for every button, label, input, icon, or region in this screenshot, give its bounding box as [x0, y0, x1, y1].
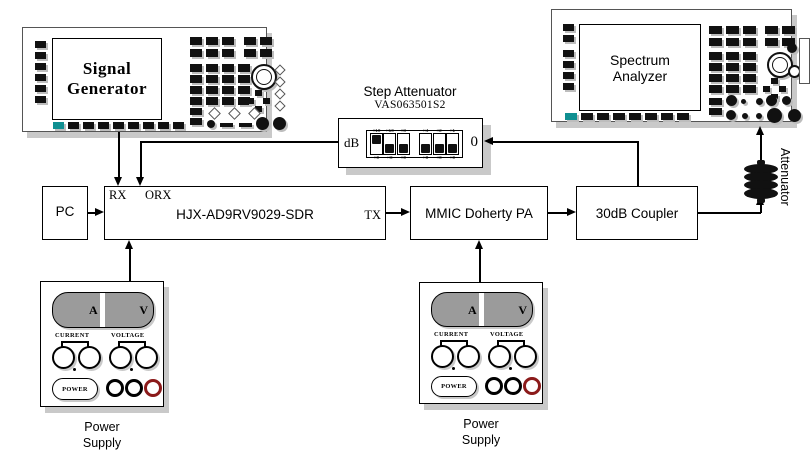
- arrow-siggen-to-rx: [114, 177, 122, 186]
- ps1-indicator-dot: [130, 368, 133, 371]
- block-sdr-label: HJX-AD9RV9029-SDR: [105, 207, 385, 222]
- arrow-load-to-spectrum-analyzer: [756, 126, 764, 135]
- sa-function-key[interactable]: [743, 38, 756, 46]
- sa-softkey-active[interactable]: [565, 113, 577, 120]
- sg-function-key[interactable]: [206, 49, 218, 57]
- power-supply-1-caption: Power Supply: [42, 420, 162, 451]
- sa-keypad-key[interactable]: [709, 85, 722, 93]
- sdr-port-rx-label: RX: [109, 188, 126, 203]
- sg-function-key[interactable]: [190, 37, 202, 45]
- load-attenuator-connector-bottom: [757, 198, 765, 203]
- sg-keypad-key[interactable]: [206, 64, 218, 72]
- block-pc-label: PC: [43, 204, 87, 219]
- sg-connector[interactable]: [207, 120, 215, 128]
- wire-attenuator-to-orx-vertical: [140, 141, 142, 180]
- wire-coupler-to-load-horizontal: [698, 212, 761, 214]
- ps2-caption-line1: Power: [421, 417, 541, 433]
- wire-sdr-to-pa: [386, 212, 402, 214]
- sg-rotary-knob[interactable]: [251, 64, 277, 90]
- sg-side-button[interactable]: [35, 52, 46, 59]
- attenuator-switch-1-top-label: ×10: [371, 128, 382, 133]
- sg-indicator-icon: [274, 88, 285, 99]
- step-attenuator[interactable]: dB ×10 ×0 ×10 ×0 ×8 ×0: [338, 118, 483, 168]
- ps2-current-fine-knob[interactable]: [457, 345, 480, 368]
- sg-keypad-key[interactable]: [190, 75, 202, 83]
- ps1-voltage-coarse-knob[interactable]: [109, 346, 132, 369]
- sg-keypad-key[interactable]: [222, 64, 234, 72]
- power-supply-2[interactable]: A V CURRENT VOLTAGE POWER: [419, 282, 543, 404]
- sg-indicator-icon: [274, 100, 285, 111]
- sa-function-key[interactable]: [709, 38, 722, 46]
- arrow-sdr-to-pa: [401, 208, 410, 216]
- sa-softkey[interactable]: [613, 113, 625, 120]
- wire-siggen-to-rx: [118, 132, 120, 180]
- sg-keypad-key[interactable]: [206, 97, 218, 105]
- sa-function-key[interactable]: [782, 26, 795, 34]
- sg-connector[interactable]: [239, 123, 252, 127]
- sg-keypad-key[interactable]: [238, 75, 250, 83]
- sa-side-button[interactable]: [563, 24, 574, 31]
- sa-screen-line1: Spectrum: [610, 52, 670, 68]
- attenuator-switch-6-bottom-label: ×0: [447, 155, 458, 160]
- ps2-current-section-label: CURRENT: [434, 331, 468, 338]
- sg-softkey[interactable]: [98, 122, 109, 129]
- ps2-power-button[interactable]: POWER: [431, 376, 477, 397]
- attenuator-switch-5[interactable]: ×2 ×0: [433, 133, 446, 155]
- sa-softkey[interactable]: [597, 113, 609, 120]
- sg-side-button[interactable]: [35, 96, 46, 103]
- sa-arrow-left-key[interactable]: [763, 86, 770, 92]
- attenuator-switch-4-top-label: ×4: [420, 128, 431, 133]
- wire-pa-to-coupler: [548, 212, 568, 214]
- attenuator-switch-6-top-label: ×1: [447, 128, 458, 133]
- arrow-ps1-to-sdr: [125, 240, 133, 249]
- arrow-coupler-to-attenuator: [484, 137, 493, 145]
- ps2-display: A V: [431, 292, 533, 327]
- attenuator-switch-2-bottom-label: ×0: [384, 155, 395, 160]
- sa-keypad-key[interactable]: [743, 85, 756, 93]
- sg-softkey[interactable]: [173, 122, 184, 129]
- sg-keypad-key[interactable]: [222, 97, 234, 105]
- ps1-output-terminal-positive[interactable]: [144, 379, 162, 397]
- sa-keypad-key[interactable]: [709, 63, 722, 71]
- sa-utility-key[interactable]: [709, 108, 722, 115]
- sa-side-button[interactable]: [563, 72, 574, 79]
- sa-keypad-key[interactable]: [743, 74, 756, 82]
- sa-softkey[interactable]: [629, 113, 641, 120]
- load-attenuator[interactable]: [744, 160, 778, 204]
- ps1-voltage-section-label: VOLTAGE: [111, 332, 145, 339]
- sa-keypad-key[interactable]: [743, 63, 756, 71]
- arrow-pa-to-coupler: [567, 208, 576, 216]
- step-attenuator-output-port-label: 0: [471, 134, 479, 151]
- wire-coupler-to-attenuator-horizontal: [492, 141, 639, 143]
- sg-rf-output-port[interactable]: [273, 117, 286, 130]
- sa-keypad-key[interactable]: [743, 52, 756, 60]
- attenuator-switch-5-top-label: ×2: [434, 128, 445, 133]
- sa-keypad-key[interactable]: [726, 52, 739, 60]
- ps1-voltage-fine-knob[interactable]: [135, 346, 158, 369]
- sa-connector[interactable]: [756, 98, 763, 105]
- ps1-caption-line2: Supply: [42, 436, 162, 452]
- sg-connector[interactable]: [220, 123, 233, 127]
- sg-screen-line1: Signal: [67, 59, 147, 79]
- attenuator-switch-2-top-label: ×10: [384, 128, 395, 133]
- wire-load-to-spectrum-analyzer: [760, 131, 762, 163]
- sg-softkey[interactable]: [83, 122, 94, 129]
- sg-keypad-key[interactable]: [222, 75, 234, 83]
- attenuator-switch-3-top-label: ×8: [398, 128, 409, 133]
- sa-indicator-led: [787, 43, 797, 53]
- spectrum-analyzer-screen: Spectrum Analyzer: [579, 24, 701, 111]
- sg-function-key[interactable]: [260, 49, 272, 57]
- sa-softkey[interactable]: [581, 113, 593, 120]
- power-supply-1[interactable]: A V CURRENT VOLTAGE POWER: [40, 281, 164, 407]
- load-attenuator-label: Attenuator: [778, 148, 792, 206]
- signal-generator[interactable]: Signal Generator: [22, 27, 267, 132]
- sg-function-key[interactable]: [244, 49, 256, 57]
- sa-connector[interactable]: [741, 99, 746, 104]
- ps1-current-coarse-knob[interactable]: [52, 346, 75, 369]
- step-attenuator-switch-bank[interactable]: ×10 ×0 ×10 ×0 ×8 ×0 ×4: [366, 130, 463, 158]
- sg-rf-output-port[interactable]: [256, 117, 269, 130]
- ps2-current-coarse-knob[interactable]: [431, 345, 454, 368]
- sa-keypad-key[interactable]: [726, 63, 739, 71]
- sdr-port-tx-label: TX: [364, 208, 381, 223]
- sg-indicator-icon: [228, 107, 241, 120]
- attenuator-switch-1-bottom-label: ×0: [371, 155, 382, 160]
- sa-side-button[interactable]: [563, 61, 574, 68]
- sa-keypad-key[interactable]: [709, 52, 722, 60]
- spectrum-analyzer[interactable]: Spectrum Analyzer: [551, 9, 792, 122]
- sa-connector[interactable]: [756, 113, 762, 119]
- sa-softkey[interactable]: [661, 113, 673, 120]
- sg-screen-line2: Generator: [67, 79, 147, 99]
- arrow-attenuator-to-orx: [136, 177, 144, 186]
- sg-side-button[interactable]: [35, 74, 46, 81]
- sa-function-key[interactable]: [743, 26, 756, 34]
- sa-connector[interactable]: [766, 95, 777, 106]
- sa-keypad-key[interactable]: [726, 74, 739, 82]
- sa-connector[interactable]: [726, 95, 737, 106]
- sa-rf-input-port[interactable]: [767, 108, 782, 123]
- block-coupler-label: 30dB Coupler: [577, 206, 697, 221]
- sa-arrow-up-key[interactable]: [771, 78, 778, 84]
- sg-indicator-icon: [208, 107, 221, 120]
- ps1-voltage-unit: V: [139, 303, 148, 318]
- attenuator-switch-4[interactable]: ×4 ×0: [419, 133, 432, 155]
- attenuator-switch-4-bottom-label: ×0: [420, 155, 431, 160]
- sg-softkey[interactable]: [113, 122, 124, 129]
- sg-keypad-key[interactable]: [190, 86, 202, 94]
- ps1-current-fine-knob[interactable]: [78, 346, 101, 369]
- ps2-indicator-dot: [452, 367, 455, 370]
- diagram-canvas: Signal Generator: [0, 0, 810, 470]
- sg-utility-key[interactable]: [190, 108, 202, 115]
- sa-connector[interactable]: [742, 113, 748, 119]
- ps2-voltage-fine-knob[interactable]: [514, 345, 537, 368]
- step-attenuator-title: Step Attenuator VAS063501S2: [330, 84, 490, 111]
- power-supply-2-caption: Power Supply: [421, 417, 541, 448]
- sg-keypad-key[interactable]: [206, 75, 218, 83]
- sg-keypad-key[interactable]: [206, 86, 218, 94]
- sa-side-button[interactable]: [563, 83, 574, 90]
- ps2-voltage-section-label: VOLTAGE: [490, 331, 524, 338]
- block-doherty-pa-label: MMIC Doherty PA: [411, 206, 547, 221]
- ps1-display: A V: [52, 292, 154, 328]
- sdr-port-orx-label: ORX: [145, 188, 171, 203]
- ps2-voltage-unit: V: [518, 303, 527, 318]
- sg-keypad-key[interactable]: [238, 86, 250, 94]
- sg-arrow-right-key[interactable]: [263, 98, 270, 104]
- step-attenuator-title-text: Step Attenuator: [330, 84, 490, 99]
- sa-connector[interactable]: [782, 96, 791, 105]
- attenuator-switch-1[interactable]: ×10 ×0: [370, 133, 383, 155]
- sg-function-key[interactable]: [206, 37, 218, 45]
- sa-softkey[interactable]: [645, 113, 657, 120]
- sa-function-key[interactable]: [726, 38, 739, 46]
- wire-coupler-to-attenuator-vertical: [637, 141, 639, 187]
- ps1-output-terminal-ground[interactable]: [125, 379, 143, 397]
- sg-function-key[interactable]: [222, 37, 234, 45]
- sg-side-button[interactable]: [35, 41, 46, 48]
- ps1-current-section-label: CURRENT: [55, 332, 89, 339]
- sg-arrow-up-key[interactable]: [255, 90, 262, 96]
- sg-softkey-active[interactable]: [53, 122, 64, 129]
- sg-function-key[interactable]: [190, 49, 202, 57]
- sg-keypad-key[interactable]: [190, 64, 202, 72]
- block-sdr[interactable]: RX ORX HJX-AD9RV9029-SDR TX: [104, 186, 386, 240]
- arrow-pc-to-sdr: [95, 208, 104, 216]
- sg-keypad-key[interactable]: [190, 97, 202, 105]
- sg-function-key[interactable]: [244, 37, 256, 45]
- sg-softkey[interactable]: [68, 122, 79, 129]
- sg-softkey[interactable]: [128, 122, 139, 129]
- sg-keypad-key[interactable]: [222, 86, 234, 94]
- sg-function-key[interactable]: [222, 49, 234, 57]
- attenuator-switch-3[interactable]: ×8 ×0: [397, 133, 410, 155]
- ps2-caption-line2: Supply: [421, 433, 541, 449]
- sa-function-key[interactable]: [709, 26, 722, 34]
- ps2-output-terminal-positive[interactable]: [523, 377, 541, 395]
- ps1-output-terminal-negative[interactable]: [106, 379, 124, 397]
- wire-ps2-to-pa: [479, 248, 481, 282]
- ps1-power-button[interactable]: POWER: [52, 378, 98, 400]
- attenuator-switch-5-bottom-label: ×0: [434, 155, 445, 160]
- block-pc[interactable]: PC: [42, 186, 88, 240]
- ps1-current-unit: A: [89, 303, 98, 318]
- attenuator-switch-6[interactable]: ×1 ×0: [446, 133, 459, 155]
- sa-arrow-right-key[interactable]: [779, 86, 786, 92]
- attenuator-switch-2[interactable]: ×10 ×0: [383, 133, 396, 155]
- sg-arrow-left-key[interactable]: [247, 98, 254, 104]
- arrow-ps2-to-pa: [475, 240, 483, 249]
- attenuator-switch-3-bottom-label: ×0: [398, 155, 409, 160]
- sa-function-key[interactable]: [765, 26, 778, 34]
- sg-softkey[interactable]: [158, 122, 169, 129]
- step-attenuator-input-port-label: dB: [344, 135, 359, 151]
- ps2-output-terminal-ground[interactable]: [504, 377, 522, 395]
- sg-softkey[interactable]: [143, 122, 154, 129]
- block-coupler[interactable]: 30dB Coupler: [576, 186, 698, 240]
- sa-connector[interactable]: [726, 110, 736, 120]
- sg-function-key[interactable]: [260, 37, 272, 45]
- ps1-indicator-dot: [73, 368, 76, 371]
- sa-softkey[interactable]: [677, 113, 689, 120]
- sg-utility-key[interactable]: [190, 118, 202, 125]
- sa-keypad-key[interactable]: [726, 85, 739, 93]
- sa-usb-slot[interactable]: [799, 38, 810, 84]
- sa-function-key[interactable]: [765, 38, 778, 46]
- sa-function-key[interactable]: [726, 26, 739, 34]
- sa-rf-input-port[interactable]: [788, 109, 801, 122]
- ps2-current-unit: A: [468, 303, 477, 318]
- sa-utility-key[interactable]: [709, 98, 722, 105]
- sg-keypad-key[interactable]: [238, 64, 250, 72]
- sg-side-button[interactable]: [35, 63, 46, 70]
- sa-keypad-key[interactable]: [709, 74, 722, 82]
- sg-side-button[interactable]: [35, 85, 46, 92]
- ps2-voltage-coarse-knob[interactable]: [488, 345, 511, 368]
- step-attenuator-model: VAS063501S2: [330, 99, 490, 111]
- sa-side-button[interactable]: [563, 50, 574, 57]
- sa-side-button[interactable]: [563, 35, 574, 42]
- ps1-caption-line1: Power: [42, 420, 162, 436]
- ps2-indicator-dot: [509, 367, 512, 370]
- ps2-output-terminal-negative[interactable]: [485, 377, 503, 395]
- wire-attenuator-to-orx-horizontal: [140, 141, 339, 143]
- block-doherty-pa[interactable]: MMIC Doherty PA: [410, 186, 548, 240]
- signal-generator-screen: Signal Generator: [52, 38, 162, 120]
- wire-ps1-to-sdr: [129, 248, 131, 282]
- sa-screen-line2: Analyzer: [610, 68, 670, 84]
